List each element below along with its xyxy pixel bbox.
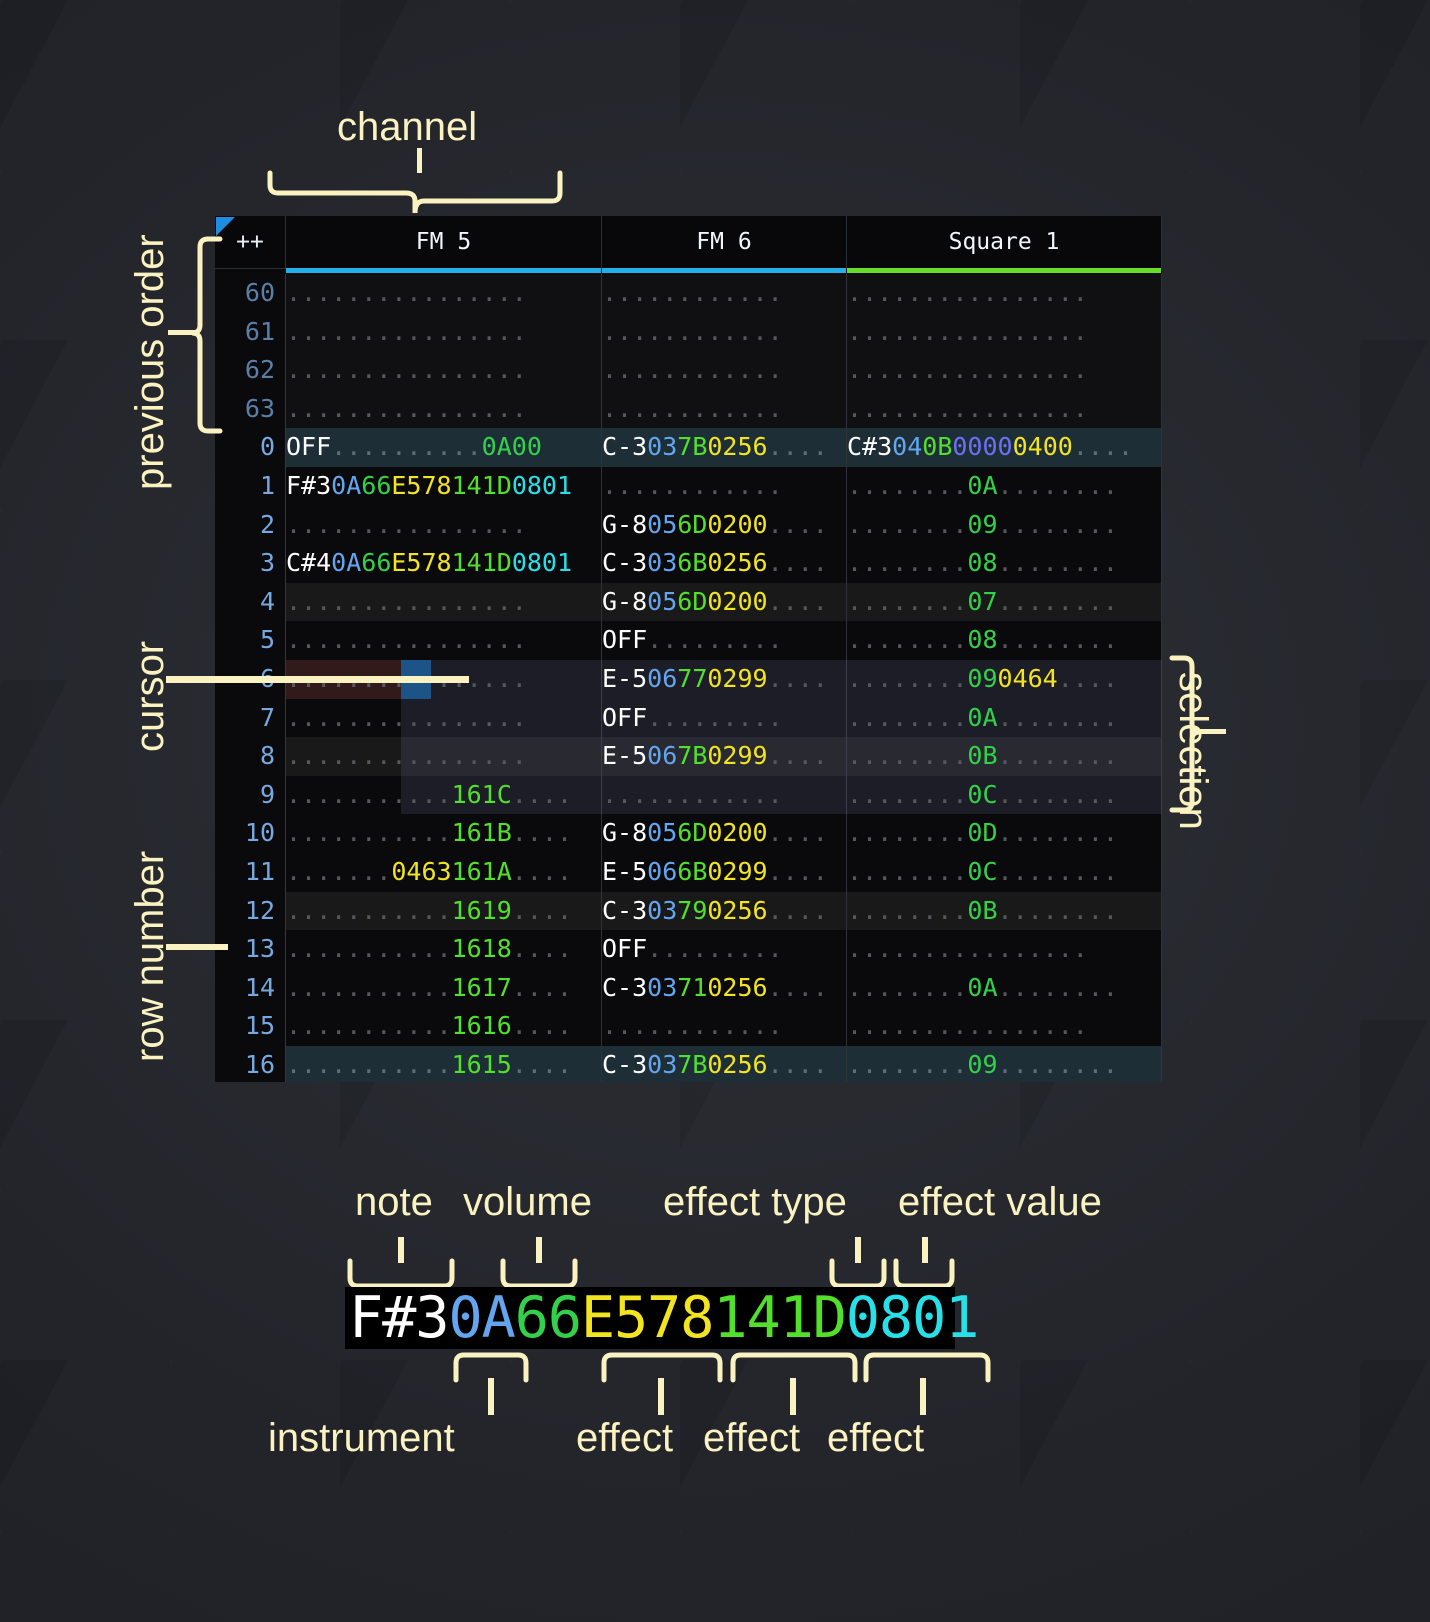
legend-segment-effect_green: 141D: [713, 1287, 845, 1349]
cell-segment-empty: ................: [847, 355, 1088, 384]
pattern-cell[interactable]: ................: [286, 737, 602, 776]
cell-segment-empty: ....: [512, 1011, 572, 1040]
cell-segment-empty: .........: [647, 703, 782, 732]
pattern-cell[interactable]: ............: [602, 313, 847, 352]
brace-selection: [1168, 654, 1202, 814]
pattern-row[interactable]: 9...........161C........................…: [215, 776, 1162, 815]
cell-segment-effect_yellow: 0299: [707, 857, 767, 886]
cell-segment-volume: 0C: [967, 857, 997, 886]
pattern-cell[interactable]: .......0463161A....: [286, 853, 602, 892]
pattern-row[interactable]: 12...........1619....C-303790256........…: [215, 892, 1162, 931]
cell-segment-empty: ....: [768, 548, 828, 577]
channel-accent-bar: [602, 268, 846, 273]
cell-segment-empty: ................: [286, 703, 527, 732]
cell-segment-effect_green: 6B: [677, 857, 707, 886]
row-number: 5: [215, 621, 286, 660]
cell-segment-volume: 08: [967, 548, 997, 577]
row-number: 63: [215, 390, 286, 429]
cell-segment-effect_yellow: E578: [391, 548, 451, 577]
row-number: 9: [215, 776, 286, 815]
pattern-cell[interactable]: C-303710256....: [602, 969, 847, 1008]
pattern-cell[interactable]: ...........161C....: [286, 776, 602, 815]
pattern-cell[interactable]: ............: [602, 776, 847, 815]
cell-segment-note: E-5: [602, 741, 647, 770]
pattern-cell[interactable]: ........0A........: [847, 699, 1162, 738]
cell-segment-empty: ................: [286, 587, 527, 616]
channel-header-2[interactable]: FM 6: [602, 216, 847, 268]
row-number: 3: [215, 544, 286, 583]
cell-segment-effect_yellow: 0400: [1013, 432, 1073, 461]
pattern-cell[interactable]: ...........1616....: [286, 1007, 602, 1046]
cell-segment-empty: ........: [998, 896, 1118, 925]
cell-segment-volume: 09: [967, 1050, 997, 1079]
pattern-cell[interactable]: ........0C........: [847, 776, 1162, 815]
cell-segment-note: C-3: [602, 896, 647, 925]
cell-segment-empty: ................: [847, 317, 1088, 346]
cell-segment-empty: ........: [998, 857, 1118, 886]
cell-segment-volume: 66: [361, 548, 391, 577]
pattern-cell[interactable]: C-3036B0256....: [602, 544, 847, 583]
cell-segment-effect_green: 1617: [452, 973, 512, 1002]
cell-segment-empty: .........: [647, 625, 782, 654]
row-cells: ...........1617....C-303710256..........…: [286, 969, 1162, 1008]
cell-segment-empty: ....: [768, 857, 828, 886]
cell-segment-volume: 07: [967, 587, 997, 616]
pattern-row[interactable]: 15...........1616.......................…: [215, 1007, 1162, 1046]
row-cells: ................OFF.................08..…: [286, 621, 1162, 660]
pattern-cell[interactable]: OFF.........: [602, 699, 847, 738]
tick-instrument: [488, 1378, 494, 1415]
cell-segment-volume: 0A: [967, 471, 997, 500]
row-number: 7: [215, 699, 286, 738]
pattern-row[interactable]: 3C#40A66E578141D0801C-3036B0256.........…: [215, 544, 1162, 583]
cell-segment-empty: ................: [286, 394, 527, 423]
cell-segment-effect_green: 1616: [452, 1011, 512, 1040]
cell-segment-effect_green: 7B: [677, 1050, 707, 1079]
pattern-cell[interactable]: E-5066B0299....: [602, 853, 847, 892]
row-number: 12: [215, 892, 286, 931]
cell-segment-empty: ........: [998, 587, 1118, 616]
pattern-cell[interactable]: ...........1619....: [286, 892, 602, 931]
cell-segment-empty: ............: [602, 317, 783, 346]
tick-previous-order: [168, 330, 196, 335]
pattern-row[interactable]: 1F#30A66E578141D0801....................…: [215, 467, 1162, 506]
cell-segment-empty: ........: [847, 471, 967, 500]
pattern-row[interactable]: 13...........1618....OFF................…: [215, 930, 1162, 969]
legend-segment-volume: 66: [515, 1287, 581, 1349]
annotation-label-channel: channel: [337, 105, 477, 150]
cell-segment-volume: 0D: [967, 818, 997, 847]
pattern-row[interactable]: 5................OFF.................08.…: [215, 621, 1162, 660]
cell-segment-effect_green: 141D: [452, 471, 512, 500]
pattern-cell[interactable]: ........0D........: [847, 814, 1162, 853]
tick-effect-1: [658, 1378, 664, 1415]
cell-segment-effect_cyan: 0801: [512, 548, 572, 577]
cell-segment-empty: ........: [998, 703, 1118, 732]
cell-segment-note: F#3: [286, 471, 331, 500]
legend-segment-note: F#3: [349, 1287, 448, 1349]
cell-segment-note: C-3: [602, 1050, 647, 1079]
annotation-label-effect-3: effect: [827, 1416, 924, 1461]
cell-segment-empty: ............: [602, 278, 783, 307]
cell-segment-volume: 0A: [482, 432, 512, 461]
pattern-cell[interactable]: C-3037B0256....: [602, 428, 847, 467]
cell-segment-empty: ..........: [331, 432, 482, 461]
cell-segment-empty: ....: [512, 1050, 572, 1079]
cell-segment-effect_yellow: E578: [391, 471, 451, 500]
row-number: 15: [215, 1007, 286, 1046]
tick-note: [398, 1237, 404, 1263]
cell-segment-empty: ........: [847, 780, 967, 809]
cell-segment-empty: ...........: [286, 973, 452, 1002]
row-number: 0: [215, 428, 286, 467]
pattern-row[interactable]: 61......................................…: [215, 313, 1162, 352]
pattern-cell[interactable]: ................: [847, 1007, 1162, 1046]
cell-segment-effect_yellow: 0299: [707, 741, 767, 770]
row-cells: ...........161B....G-8056D0200..........…: [286, 814, 1162, 853]
row-cells: OFF..........0A00C-3037B0256....C#3040B0…: [286, 428, 1162, 467]
cell-segment-volume: 66: [361, 471, 391, 500]
row-number: 11: [215, 853, 286, 892]
cell-segment-effect_green: 161C: [452, 780, 512, 809]
cell-segment-volume: 0B: [967, 896, 997, 925]
cell-segment-instrument: 0A: [331, 471, 361, 500]
channel-header-1[interactable]: FM 5: [286, 216, 602, 268]
channel-name: FM 5: [416, 229, 471, 255]
cell-segment-empty: ...........: [286, 818, 452, 847]
cell-segment-note: E-5: [602, 857, 647, 886]
cell-segment-note: OFF: [602, 934, 647, 963]
cell-segment-empty: ....: [1058, 664, 1118, 693]
cell-segment-empty: ...........: [286, 1011, 452, 1040]
pattern-row[interactable]: 7................OFF.................0A.…: [215, 699, 1162, 738]
cell-segment-empty: ........: [847, 1050, 967, 1079]
row-cells: F#30A66E578141D0801....................0…: [286, 467, 1162, 506]
cell-segment-effect_green: 1619: [452, 896, 512, 925]
cell-segment-instrument: 04: [892, 432, 922, 461]
pattern-cell[interactable]: ............: [602, 467, 847, 506]
channel-accent-bar: [286, 268, 601, 273]
cell-segment-empty: ........: [847, 625, 967, 654]
row-number: 8: [215, 737, 286, 776]
cell-segment-instrument: 06: [647, 664, 677, 693]
cell-segment-effect_green: 161A: [452, 857, 512, 886]
cell-segment-effect_green: 77: [677, 664, 707, 693]
cell-segment-empty: ............: [602, 355, 783, 384]
cell-segment-empty: ........: [998, 548, 1118, 577]
cell-segment-empty: ....: [512, 780, 572, 809]
pattern-cell[interactable]: ........0A........: [847, 969, 1162, 1008]
pattern-cell[interactable]: ................: [847, 351, 1162, 390]
pattern-cell[interactable]: ........09........: [847, 1046, 1162, 1082]
pattern-cell[interactable]: ................: [847, 274, 1162, 313]
cell-segment-empty: ........: [998, 973, 1118, 1002]
cell-segment-empty: ............: [602, 471, 783, 500]
pattern-row[interactable]: 16...........1615....C-3037B0256........…: [215, 1046, 1162, 1082]
cell-segment-empty: ........: [847, 896, 967, 925]
cell-segment-instrument: 03: [647, 973, 677, 1002]
pattern-cell[interactable]: ................: [286, 351, 602, 390]
cell-segment-instrument: 03: [647, 1050, 677, 1079]
cell-segment-effect_green: 161B: [452, 818, 512, 847]
pattern-cell[interactable]: E-506770299....: [602, 660, 847, 699]
pattern-row[interactable]: 2................G-8056D0200............…: [215, 506, 1162, 545]
pattern-cell[interactable]: ........0B........: [847, 737, 1162, 776]
cell-segment-empty: ........: [847, 548, 967, 577]
tick-effect-3: [920, 1378, 926, 1415]
cell-segment-volume: 00: [512, 432, 542, 461]
pattern-cell[interactable]: ........09........: [847, 506, 1162, 545]
cell-segment-effect_yellow: 0299: [707, 664, 767, 693]
cell-segment-empty: ........: [847, 818, 967, 847]
row-number: 10: [215, 814, 286, 853]
pattern-cell[interactable]: ........07........: [847, 583, 1162, 622]
pattern-cell[interactable]: G-8056D0200....: [602, 506, 847, 545]
cell-segment-empty: ....: [768, 973, 828, 1002]
pattern-cell[interactable]: ........0C........: [847, 853, 1162, 892]
pattern-cell[interactable]: ................: [286, 621, 602, 660]
cell-segment-effect_cyan: 0801: [512, 471, 572, 500]
pattern-row[interactable]: 0OFF..........0A00C-3037B0256....C#3040B…: [215, 428, 1162, 467]
cell-segment-empty: ...........: [286, 934, 452, 963]
pattern-cell[interactable]: ...........1617....: [286, 969, 602, 1008]
cell-segment-volume: 0B: [967, 741, 997, 770]
pattern-cell[interactable]: ...........161B....: [286, 814, 602, 853]
cell-segment-empty: ........: [998, 471, 1118, 500]
pattern-cell[interactable]: ................: [286, 699, 602, 738]
row-cells: ................OFF.................0A..…: [286, 699, 1162, 738]
pattern-cell[interactable]: OFF..........0A00: [286, 428, 602, 467]
cell-segment-empty: ................: [847, 934, 1088, 963]
cell-segment-instrument: 03: [647, 548, 677, 577]
cell-segment-empty: ...........: [286, 1050, 452, 1079]
cell-segment-empty: ................: [286, 278, 527, 307]
cell-segment-effect_yellow: 0256: [707, 432, 767, 461]
cell-segment-empty: ....: [768, 818, 828, 847]
cell-segment-empty: ........: [998, 818, 1118, 847]
legend-segment-instrument: 0A: [448, 1287, 514, 1349]
row-cells: ........................................…: [286, 351, 1162, 390]
brace-previous-order: [190, 235, 224, 435]
pattern-cell[interactable]: ................: [286, 274, 602, 313]
cell-segment-volume: 09: [967, 664, 997, 693]
pattern-cell[interactable]: ................: [286, 390, 602, 429]
pattern-header-row: ++ FM 5FM 6Square 1: [215, 216, 1162, 269]
pattern-corner-marker[interactable]: ++: [215, 216, 286, 268]
cell-segment-effect_green: 71: [677, 973, 707, 1002]
pattern-cell[interactable]: ........08........: [847, 621, 1162, 660]
cell-segment-instrument: 06: [647, 857, 677, 886]
row-cells: ...........1616.........................…: [286, 1007, 1162, 1046]
row-cells: ........................................…: [286, 274, 1162, 313]
pattern-cell[interactable]: C-303790256....: [602, 892, 847, 931]
cell-segment-instrument: 05: [647, 587, 677, 616]
cell-segment-volume: 0A: [967, 703, 997, 732]
pattern-cell[interactable]: ............: [602, 1007, 847, 1046]
cell-segment-effect_green: 79: [677, 896, 707, 925]
pattern-cell[interactable]: ........0B........: [847, 892, 1162, 931]
cell-segment-empty: ................: [286, 317, 527, 346]
annotation-label-previous-order: previous order: [128, 234, 173, 490]
pattern-cell[interactable]: E-5067B0299....: [602, 737, 847, 776]
row-cells: ...........1615....C-3037B0256..........…: [286, 1046, 1162, 1082]
pattern-cell[interactable]: ........08........: [847, 544, 1162, 583]
cell-segment-effect_green: 1615: [452, 1050, 512, 1079]
row-cells: ........................................…: [286, 390, 1162, 429]
pattern-cell[interactable]: ........0A........: [847, 467, 1162, 506]
pattern-cell[interactable]: OFF.........: [602, 930, 847, 969]
pattern-cell[interactable]: ................: [286, 506, 602, 545]
pattern-row[interactable]: 14...........1617....C-303710256........…: [215, 969, 1162, 1008]
cell-segment-effect_yellow: 0256: [707, 973, 767, 1002]
brace-effect-3: [863, 1351, 991, 1383]
row-number: 1: [215, 467, 286, 506]
pattern-cell[interactable]: ................: [847, 313, 1162, 352]
pattern-cell-legend: F#30A66E578141D0801: [345, 1287, 955, 1349]
pattern-row[interactable]: 63......................................…: [215, 390, 1162, 429]
pattern-row[interactable]: 4................G-8056D0200............…: [215, 583, 1162, 622]
annotation-label-effect-type: effect type: [663, 1180, 847, 1225]
cell-segment-note: E-5: [602, 664, 647, 693]
cell-segment-note: C#4: [286, 548, 331, 577]
pattern-row[interactable]: 8................E-5067B0299............…: [215, 737, 1162, 776]
pattern-cell[interactable]: F#30A66E578141D0801: [286, 467, 602, 506]
cell-segment-empty: ........: [847, 510, 967, 539]
row-cells: ...........1619....C-303790256..........…: [286, 892, 1162, 931]
cell-segment-instrument: 05: [647, 818, 677, 847]
pattern-row[interactable]: 11.......0463161A....E-5066B0299........…: [215, 853, 1162, 892]
cell-segment-empty: ................: [286, 625, 527, 654]
pattern-editor[interactable]: ++ FM 5FM 6Square 1 60..................…: [215, 216, 1162, 1082]
cell-segment-empty: ....: [1073, 432, 1133, 461]
annotation-label-effect-2: effect: [703, 1416, 800, 1461]
cell-segment-empty: ............: [602, 1011, 783, 1040]
tick-effect-value: [922, 1237, 928, 1263]
cell-segment-empty: ....: [512, 934, 572, 963]
tick-effect-2: [790, 1378, 796, 1415]
pattern-row[interactable]: 10...........161B....G-8056D0200........…: [215, 814, 1162, 853]
cell-segment-empty: ............: [602, 780, 783, 809]
cell-segment-note: G-8: [602, 587, 647, 616]
cell-segment-effect_yellow: 0256: [707, 896, 767, 925]
cell-segment-empty: ........: [847, 973, 967, 1002]
cell-segment-empty: ....: [768, 741, 828, 770]
cell-segment-empty: ....: [512, 818, 572, 847]
row-number: 4: [215, 583, 286, 622]
cell-segment-empty: ........: [998, 625, 1118, 654]
row-cells: ................G-8056D0200............0…: [286, 583, 1162, 622]
cell-segment-note: OFF: [602, 625, 647, 654]
cell-segment-effect_yellow: 0200: [707, 818, 767, 847]
pattern-cell[interactable]: ............: [602, 274, 847, 313]
cell-segment-note: C#3: [847, 432, 892, 461]
cell-segment-effect_yellow: 0256: [707, 1050, 767, 1079]
cell-segment-effect_green: 141D: [452, 548, 512, 577]
annotation-label-instrument: instrument: [268, 1416, 455, 1461]
row-cells: ................G-8056D0200............0…: [286, 506, 1162, 545]
cell-segment-instrument: 03: [647, 896, 677, 925]
row-number: 60: [215, 274, 286, 313]
cell-segment-empty: ........: [847, 664, 967, 693]
pattern-cell[interactable]: ............: [602, 351, 847, 390]
cell-segment-effect_green: 0B: [922, 432, 952, 461]
pattern-cell[interactable]: G-8056D0200....: [602, 583, 847, 622]
pattern-cell[interactable]: ...........1615....: [286, 1046, 602, 1082]
cell-segment-empty: ...........: [286, 780, 452, 809]
pattern-cell[interactable]: ................: [286, 583, 602, 622]
pattern-cell[interactable]: C#40A66E578141D0801: [286, 544, 602, 583]
cell-segment-instrument: 05: [647, 510, 677, 539]
cell-segment-empty: ....: [512, 857, 572, 886]
cell-segment-empty: ........: [998, 1050, 1118, 1079]
cell-segment-empty: ....: [512, 973, 572, 1002]
cell-segment-empty: ....: [768, 587, 828, 616]
row-number: 16: [215, 1046, 286, 1082]
pattern-cell[interactable]: ...........1618....: [286, 930, 602, 969]
cell-segment-empty: ................: [847, 394, 1088, 423]
cell-segment-empty: ................: [286, 510, 527, 539]
cell-segment-effect_green: 7B: [677, 432, 707, 461]
cell-segment-empty: ................: [286, 355, 527, 384]
brace-channel: [266, 170, 568, 215]
cell-segment-note: C-3: [602, 548, 647, 577]
channel-name: FM 6: [696, 229, 751, 255]
cell-segment-note: C-3: [602, 973, 647, 1002]
cell-segment-empty: .......: [286, 857, 391, 886]
annotation-label-effect-1: effect: [576, 1416, 673, 1461]
pattern-row[interactable]: 62......................................…: [215, 351, 1162, 390]
pattern-cell[interactable]: ............: [602, 390, 847, 429]
pattern-cell[interactable]: C-3037B0256....: [602, 1046, 847, 1082]
pattern-cell[interactable]: OFF.........: [602, 621, 847, 660]
cell-segment-instrument: 03: [647, 432, 677, 461]
annotation-label-cursor: cursor: [128, 641, 173, 752]
legend-segment-effect_yellow: E578: [581, 1287, 713, 1349]
row-cells: ................E-5067B0299............0…: [286, 737, 1162, 776]
cell-segment-effect_yellow: 0464: [998, 664, 1058, 693]
pattern-cell[interactable]: ................: [286, 313, 602, 352]
pattern-row[interactable]: 60......................................…: [215, 274, 1162, 313]
cell-segment-instrument: 0A: [331, 548, 361, 577]
annotation-label-row-number: row number: [128, 851, 173, 1062]
pattern-cell[interactable]: C#3040B00000400....: [847, 428, 1162, 467]
cell-segment-empty: ............: [602, 394, 783, 423]
row-number: 14: [215, 969, 286, 1008]
cell-segment-empty: ................: [847, 278, 1088, 307]
triangle-marker-icon: [216, 217, 235, 236]
cell-segment-volume: 0C: [967, 780, 997, 809]
pattern-cell[interactable]: ........090464....: [847, 660, 1162, 699]
cell-segment-effect_green: 7B: [677, 741, 707, 770]
cell-segment-effect_green: 6D: [677, 510, 707, 539]
cell-segment-empty: ........: [998, 510, 1118, 539]
tick-channel: [417, 148, 422, 173]
cell-segment-volume: 08: [967, 625, 997, 654]
cell-segment-empty: ........: [998, 780, 1118, 809]
row-cells: C#40A66E578141D0801C-3036B0256..........…: [286, 544, 1162, 583]
cell-segment-empty: ....: [768, 664, 828, 693]
row-number: 61: [215, 313, 286, 352]
cell-segment-effect_yellow: 0200: [707, 587, 767, 616]
cell-segment-instrument: 06: [647, 741, 677, 770]
annotation-label-effect-value: effect value: [898, 1180, 1102, 1225]
cell-segment-effect_yellow: 0200: [707, 510, 767, 539]
pattern-cell[interactable]: ................: [847, 930, 1162, 969]
channel-header-3[interactable]: Square 1: [847, 216, 1162, 268]
pattern-cell[interactable]: G-8056D0200....: [602, 814, 847, 853]
pattern-cell[interactable]: ................: [847, 390, 1162, 429]
cell-segment-empty: ....: [512, 896, 572, 925]
